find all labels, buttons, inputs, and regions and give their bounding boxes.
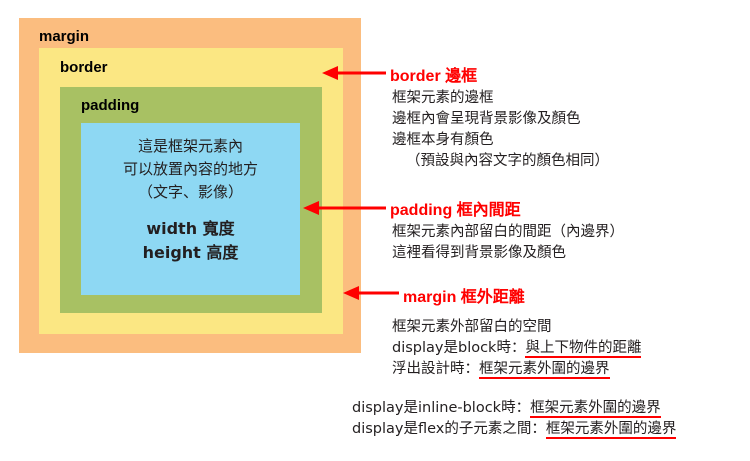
content-description-line-3: （文字、影像） <box>81 181 300 204</box>
content-dimensions: width 寬度 height 高度 <box>81 217 300 265</box>
callout-border-line-3: 邊框本身有顏色 <box>392 130 609 151</box>
callout-margin-rule-3-emphasis: 框架元素外圍的邊界 <box>530 400 661 418</box>
padding-layer: padding 這是框架元素內 可以放置內容的地方 （文字、影像） width … <box>60 87 322 313</box>
callout-border-line-2: 邊框內會呈現背景影像及顏色 <box>392 109 609 130</box>
margin-layer-label: margin <box>39 28 89 45</box>
callout-padding-body: 框架元素內部留白的間距（內邊界） 這裡看得到背景影像及顏色 <box>392 222 624 264</box>
callout-border-body: 框架元素的邊框 邊框內會呈現背景影像及顏色 邊框本身有顏色 （預設與內容文字的顏… <box>392 88 609 172</box>
content-width-label: width 寬度 <box>81 217 300 241</box>
box-model-diagram: margin border padding 這是框架元素內 可以放置內容的地方 … <box>19 18 361 353</box>
callout-border-line-1: 框架元素的邊框 <box>392 88 609 109</box>
callout-border-line-4: （預設與內容文字的顏色相同） <box>392 151 609 172</box>
callout-margin-line-1: 框架元素外部留白的空間 <box>392 317 641 338</box>
padding-layer-label: padding <box>81 97 139 114</box>
callout-padding-line-2: 這裡看得到背景影像及顏色 <box>392 243 624 264</box>
border-layer: border padding 這是框架元素內 可以放置內容的地方 （文字、影像）… <box>39 48 343 334</box>
callout-padding-title: padding 框內間距 <box>390 196 521 220</box>
callout-margin-rule-1-emphasis: 與上下物件的距離 <box>525 340 641 358</box>
callout-margin-rule-1-prefix: display是block時： <box>392 340 525 356</box>
callout-margin-rule-2-emphasis: 框架元素外圍的邊界 <box>479 361 610 379</box>
border-arrow-icon <box>320 64 388 82</box>
content-height-label: height 高度 <box>81 241 300 265</box>
border-layer-label: border <box>60 59 108 76</box>
content-description-line-2: 可以放置內容的地方 <box>81 158 300 181</box>
callout-margin-extra-body: display是inline-block時：框架元素外圍的邊界 display是… <box>352 398 676 440</box>
callout-border-title: border 邊框 <box>390 62 477 86</box>
callout-margin-rule-3: display是inline-block時：框架元素外圍的邊界 <box>352 398 676 419</box>
callout-margin-body: 框架元素外部留白的空間 display是block時：與上下物件的距離 浮出設計… <box>392 317 641 380</box>
callout-margin-rule-4: display是flex的子元素之間：框架元素外圍的邊界 <box>352 419 676 440</box>
content-layer: 這是框架元素內 可以放置內容的地方 （文字、影像） width 寬度 heigh… <box>81 123 300 295</box>
margin-arrow-icon <box>341 284 401 302</box>
callout-margin-rule-3-prefix: display是inline-block時： <box>352 400 530 416</box>
callout-margin-rule-1: display是block時：與上下物件的距離 <box>392 338 641 359</box>
callout-margin-rule-4-emphasis: 框架元素外圍的邊界 <box>546 421 677 439</box>
content-description: 這是框架元素內 可以放置內容的地方 （文字、影像） <box>81 135 300 204</box>
content-description-line-1: 這是框架元素內 <box>81 135 300 158</box>
callout-margin-rule-2: 浮出設計時：框架元素外圍的邊界 <box>392 359 641 380</box>
callout-margin-rule-4-prefix: display是flex的子元素之間： <box>352 421 546 437</box>
padding-arrow-icon <box>301 199 388 217</box>
callout-padding-line-1: 框架元素內部留白的間距（內邊界） <box>392 222 624 243</box>
margin-layer: margin border padding 這是框架元素內 可以放置內容的地方 … <box>19 18 361 353</box>
callout-margin-rule-2-prefix: 浮出設計時： <box>392 361 479 377</box>
callout-margin-title: margin 框外距離 <box>403 283 525 307</box>
